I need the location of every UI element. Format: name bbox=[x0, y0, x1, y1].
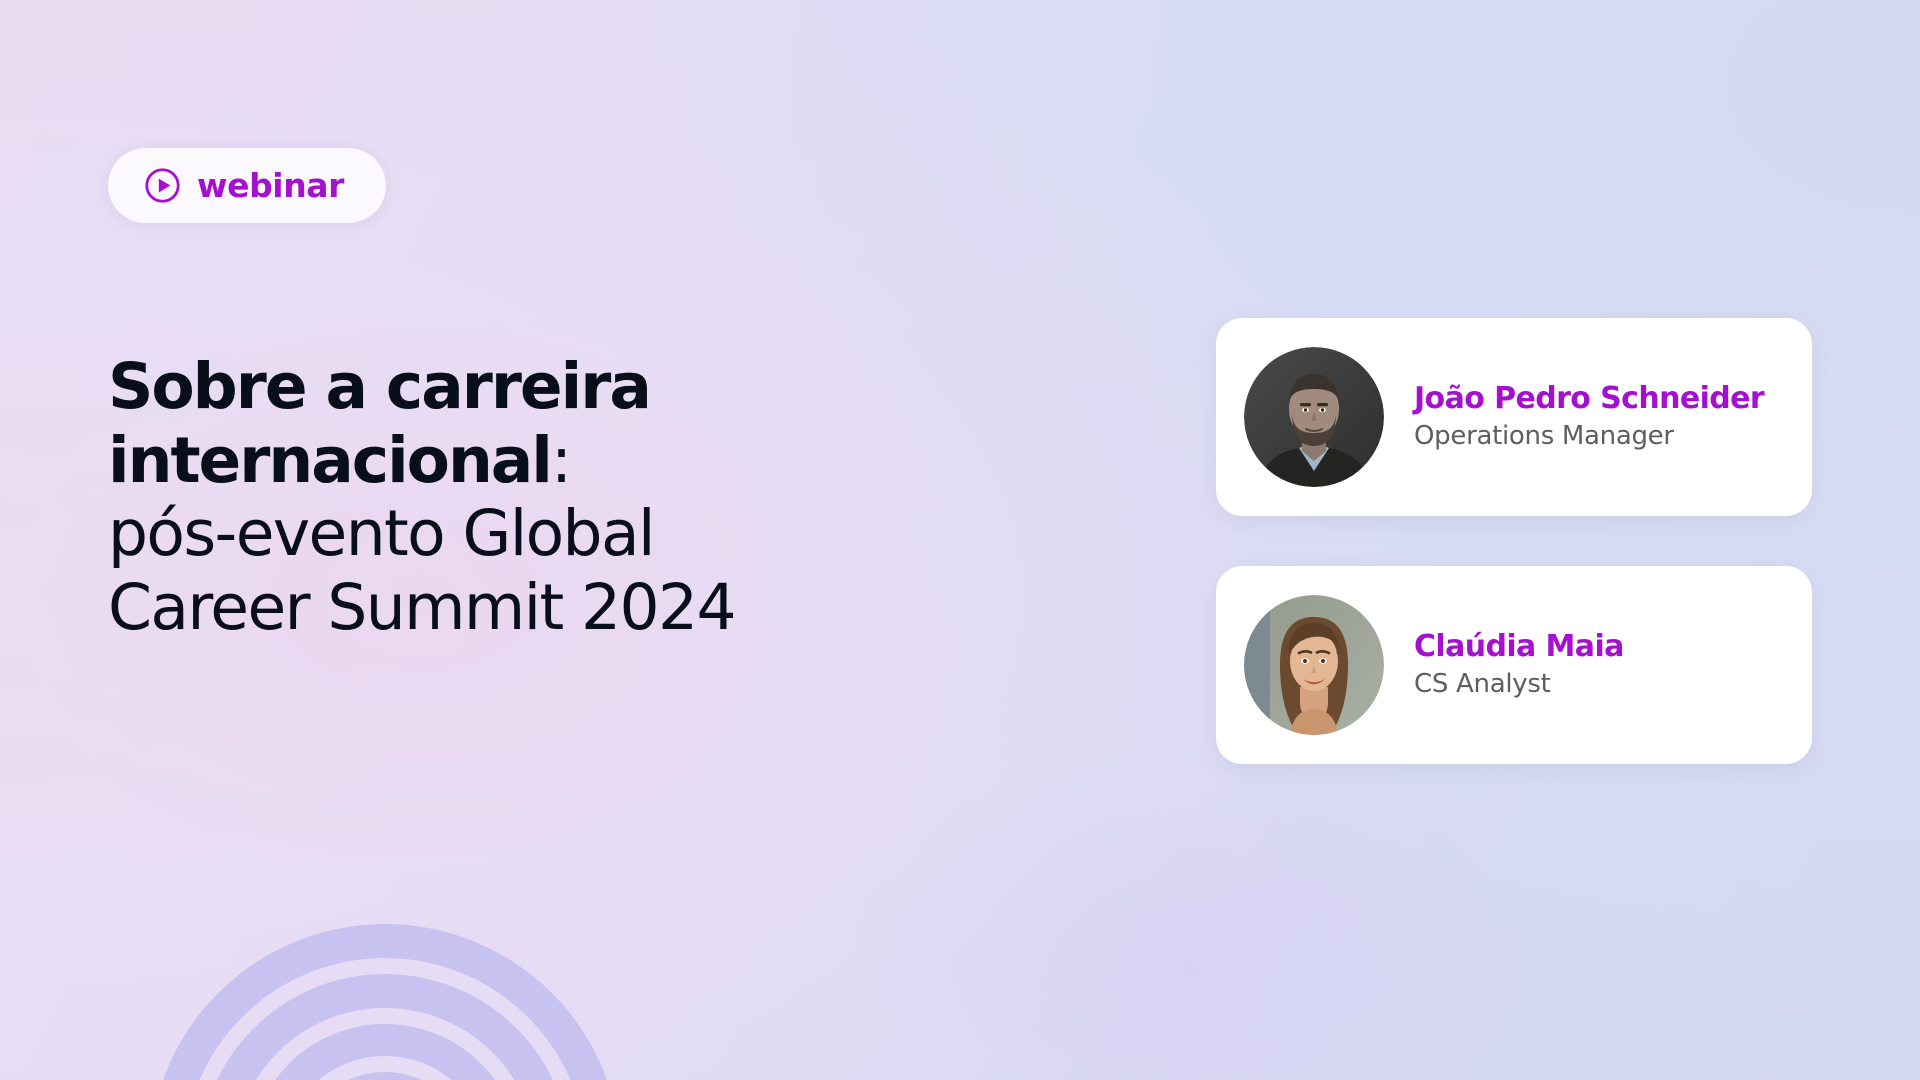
speaker-role: Operations Manager bbox=[1414, 422, 1764, 452]
banner-background: webinar Sobre a carreira internacional: … bbox=[0, 0, 1920, 1080]
speaker-info: João Pedro Schneider Operations Manager bbox=[1414, 382, 1764, 452]
headline-line-3: pós-evento Global bbox=[108, 497, 928, 571]
headline-line-2-strong: internacional bbox=[108, 424, 551, 497]
ring-3 bbox=[249, 1024, 521, 1080]
play-circle-icon bbox=[144, 167, 181, 204]
webinar-badge-label: webinar bbox=[197, 169, 344, 202]
speaker-card[interactable]: Claúdia Maia CS Analyst bbox=[1216, 566, 1812, 764]
speaker-card[interactable]: João Pedro Schneider Operations Manager bbox=[1216, 318, 1812, 516]
speaker-name: Claúdia Maia bbox=[1414, 630, 1624, 665]
speaker-info: Claúdia Maia CS Analyst bbox=[1414, 630, 1624, 700]
avatar bbox=[1244, 347, 1384, 487]
speaker-card-list: João Pedro Schneider Operations Manager bbox=[1216, 318, 1812, 764]
ring-2 bbox=[199, 974, 571, 1080]
headline-line-2-colon: : bbox=[551, 424, 571, 497]
webinar-badge[interactable]: webinar bbox=[108, 148, 386, 223]
ring-4 bbox=[297, 1072, 473, 1080]
headline-line-4: Career Summit 2024 bbox=[108, 571, 928, 645]
headline-line-1: Sobre a carreira bbox=[108, 350, 928, 424]
page-title: Sobre a carreira internacional: pós-even… bbox=[108, 350, 928, 645]
speaker-role: CS Analyst bbox=[1414, 670, 1624, 700]
headline-line-2: internacional: bbox=[108, 424, 928, 498]
speaker-name: João Pedro Schneider bbox=[1414, 382, 1764, 417]
avatar bbox=[1244, 595, 1384, 735]
